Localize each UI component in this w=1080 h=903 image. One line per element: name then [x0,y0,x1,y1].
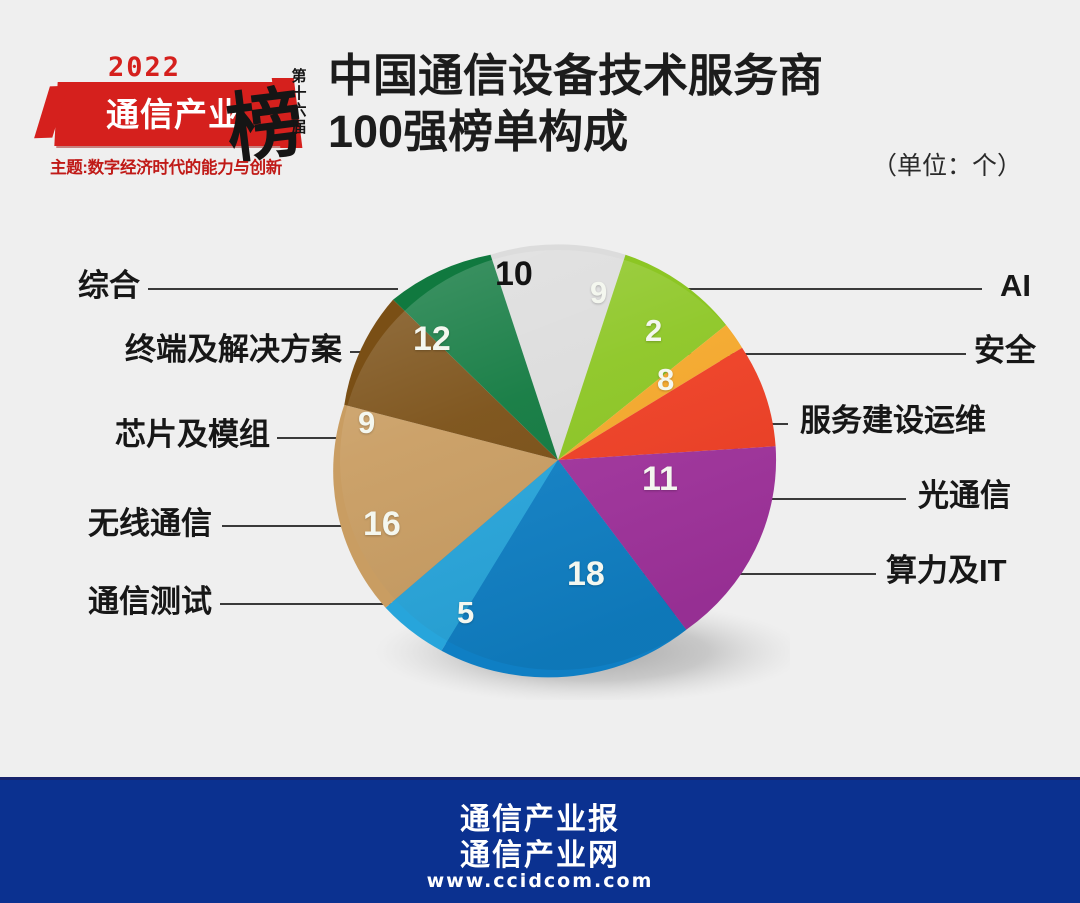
value-zonghe: 10 [495,255,533,294]
value-wuxian: 16 [363,505,401,544]
page-title: 中国通信设备技术服务商 100强榜单构成 [328,48,978,160]
callout-label-suanli[interactable]: 算力及IT [886,554,1007,588]
value-ceshi: 5 [457,595,474,631]
pie-graphic: 10 9 2 8 11 18 5 16 9 12 [290,220,790,700]
infographic-page: 2022 通信产业 榜 第十六届 主题:数字经济时代的能力与创新 中国通信设备技… [0,0,1080,900]
callout-label-ceshi[interactable]: 通信测试 [0,585,212,619]
callout-label-zhongduan[interactable]: 终端及解决方案 [0,333,342,367]
page-title-line1: 中国通信设备技术服务商 [328,50,823,101]
footer-band: 通信产业报 通信产业网 www.ccidcom.com [0,777,1080,903]
callout-label-wuxian[interactable]: 无线通信 [0,507,212,541]
footer-brand-web: 通信产业网 [0,830,1080,874]
value-zhongduan: 12 [413,320,451,359]
value-guangtongxin: 11 [642,460,678,499]
pie-svg [290,220,790,700]
logo-subtitle: 主题:数字经济时代的能力与创新 [50,154,302,178]
callout-label-anquan[interactable]: 安全 [974,334,1036,368]
value-anquan: 2 [645,313,662,349]
footer-url: www.ccidcom.com [0,870,1080,892]
value-suanli: 18 [567,555,605,594]
logo-edition-text: 第十六届 [288,68,310,136]
callout-label-zonghe[interactable]: 综合 [0,269,140,303]
callout-label-fuwu[interactable]: 服务建设运维 [800,404,986,438]
value-xinpian: 9 [358,405,375,441]
award-logo: 2022 通信产业 榜 第十六届 主题:数字经济时代的能力与创新 [36,46,311,181]
unit-note: （单位：个） [872,146,1022,182]
callout-label-ai[interactable]: AI [1000,269,1031,303]
header: 2022 通信产业 榜 第十六届 主题:数字经济时代的能力与创新 中国通信设备技… [0,0,1080,215]
callout-label-guang[interactable]: 光通信 [918,479,1011,513]
callout-label-xinpian[interactable]: 芯片及模组 [0,418,270,452]
logo-year: 2022 [108,52,181,83]
value-ai: 9 [590,275,607,311]
value-fuwu: 8 [657,362,674,398]
pie-gloss [340,250,776,670]
pie-chart: 10 9 2 8 11 18 5 16 9 12 综合 终端及解决方案 芯片及模… [0,215,1080,777]
